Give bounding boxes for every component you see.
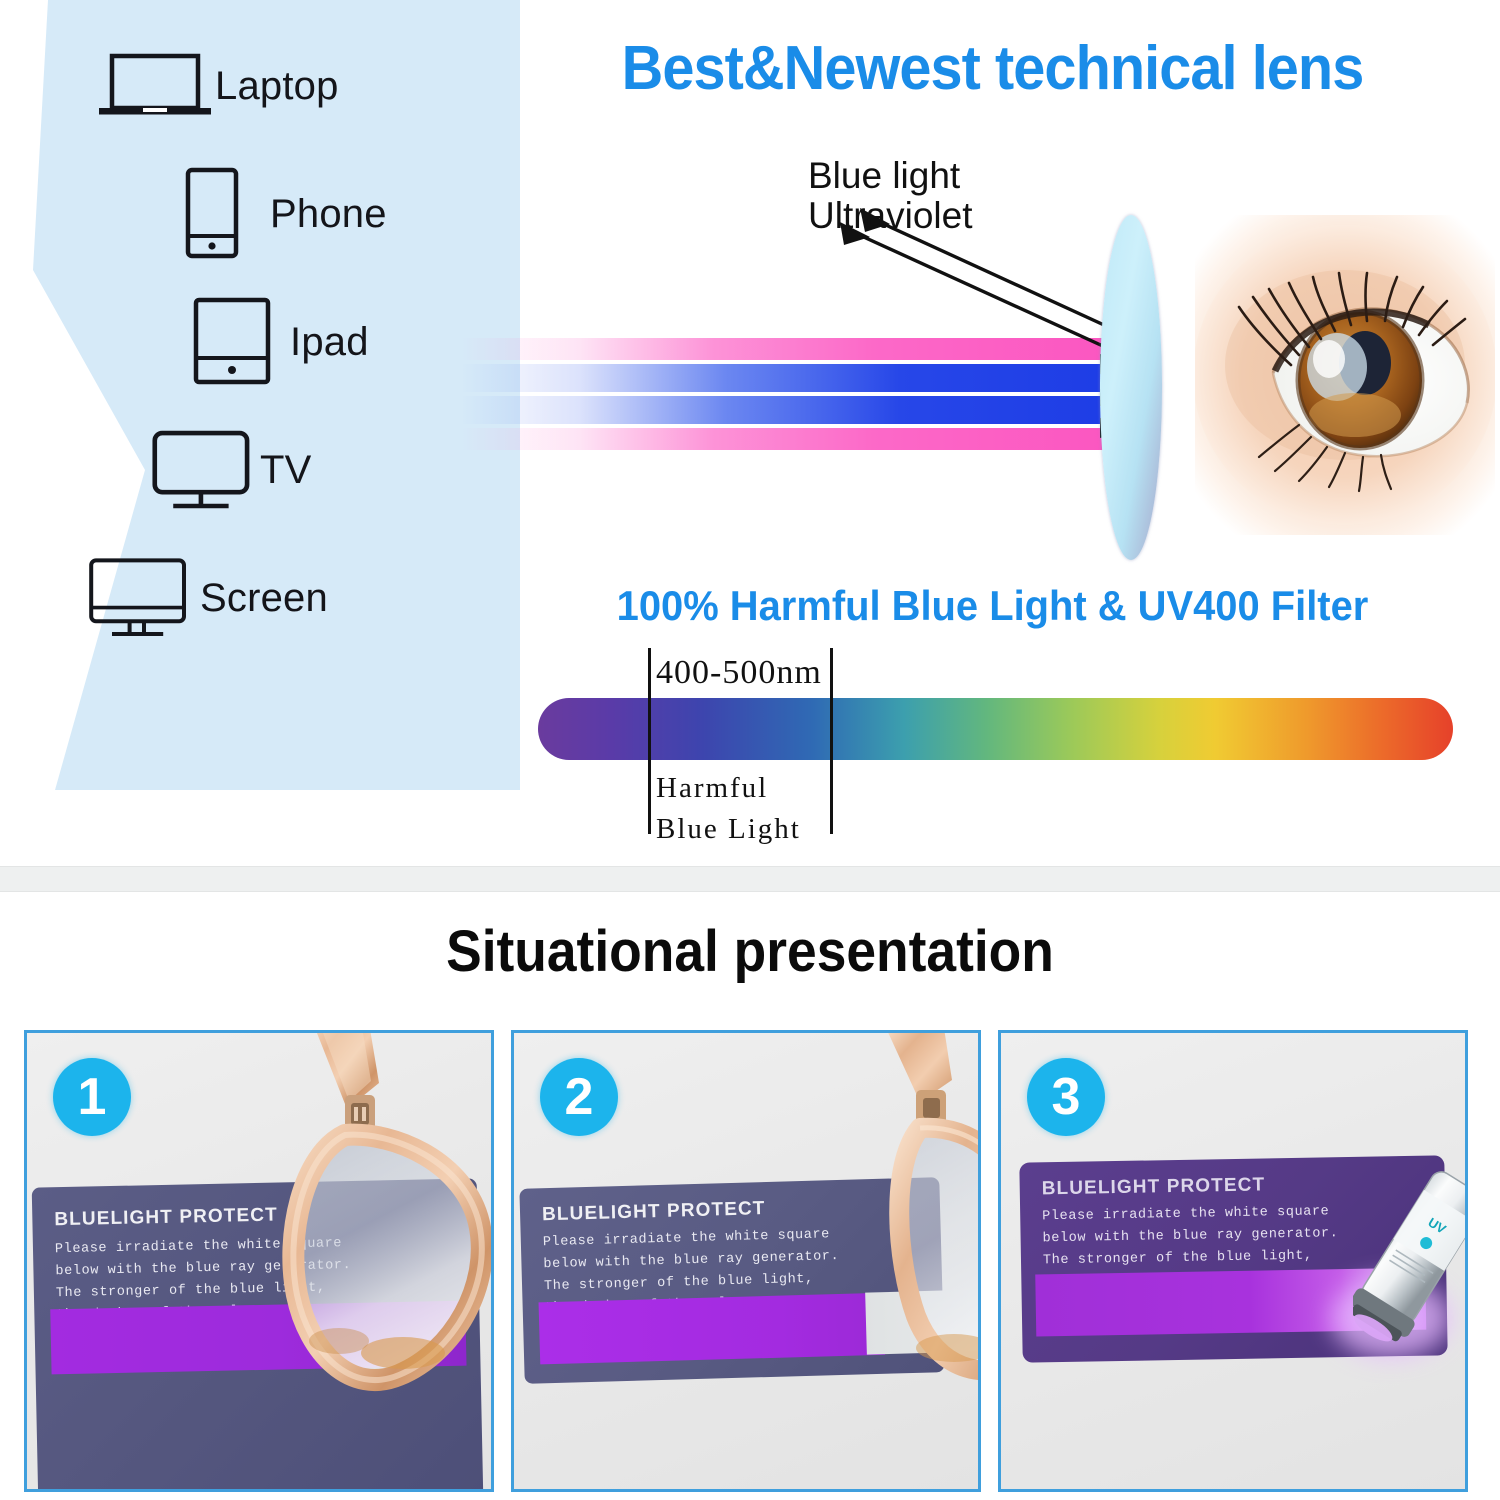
device-item-screen: Screen xyxy=(0,534,470,662)
monitor-icon xyxy=(80,543,200,653)
presentation-panel-1[interactable]: 1 BLUELIGHT PROTECT Please irradiate the… xyxy=(24,1030,494,1492)
spectrum-marker-left xyxy=(648,648,651,834)
laptop-icon xyxy=(95,46,215,126)
step-badge-1: 1 xyxy=(53,1058,131,1136)
eyeglasses-frame xyxy=(227,1030,494,1492)
spectrum-range-label: 400-500nm xyxy=(656,654,822,692)
harmful-blue-light-label: Harmful Blue Light xyxy=(656,768,801,850)
eyeglasses-frame xyxy=(824,1030,981,1458)
wavelength-spectrum: 400-500nm Harmful Blue Light xyxy=(530,648,1460,848)
harmful-line-1: Harmful xyxy=(656,768,801,809)
device-item-tv: TV xyxy=(0,406,470,534)
phone-icon xyxy=(150,164,270,264)
technical-lens-section: Laptop Phone Ipad xyxy=(0,0,1500,866)
card-heading: BLUELIGHT PROTECT xyxy=(542,1198,766,1226)
page-title: Best&Newest technical lens xyxy=(539,38,1446,100)
human-eye-photo xyxy=(1195,215,1495,535)
ipad-icon xyxy=(170,292,290,392)
step-badge-3: 3 xyxy=(1027,1058,1105,1136)
section-divider xyxy=(0,866,1500,892)
tv-icon xyxy=(140,420,260,520)
device-list: Laptop Phone Ipad xyxy=(0,22,470,662)
device-label: Laptop xyxy=(215,64,339,109)
uv-flashlight: UV xyxy=(1353,1163,1468,1353)
device-label: Screen xyxy=(200,576,328,621)
device-label: Phone xyxy=(270,192,387,237)
device-label: Ipad xyxy=(290,320,369,365)
ray-label-line2: Ultraviolet xyxy=(808,196,973,236)
eyeglass-lens xyxy=(1100,215,1162,560)
presentation-panel-2[interactable]: 2 BLUELIGHT PROTECT Please irradiate the… xyxy=(511,1030,981,1492)
filter-title: 100% Harmful Blue Light & UV400 Filter xyxy=(529,582,1455,630)
step-badge-2: 2 xyxy=(540,1058,618,1136)
situational-presentation-panels: 1 BLUELIGHT PROTECT Please irradiate the… xyxy=(24,1030,1479,1492)
device-label: TV xyxy=(260,448,312,493)
section-title: Situational presentation xyxy=(60,918,1440,985)
spectrum-marker-right xyxy=(830,648,833,834)
device-item-ipad: Ipad xyxy=(0,278,470,406)
harmful-line-2: Blue Light xyxy=(656,809,801,850)
ray-label: Blue light Ultraviolet xyxy=(808,156,973,236)
spectrum-gradient-bar xyxy=(538,698,1453,760)
blue-light-ray-diagram: Blue light Ultraviolet xyxy=(440,140,1200,560)
device-item-phone: Phone xyxy=(0,150,470,278)
presentation-panel-3[interactable]: 3 BLUELIGHT PROTECT Please irradiate the… xyxy=(998,1030,1468,1492)
device-item-laptop: Laptop xyxy=(0,22,470,150)
ray-label-line1: Blue light xyxy=(808,156,973,196)
card-heading: BLUELIGHT PROTECT xyxy=(1042,1174,1266,1200)
